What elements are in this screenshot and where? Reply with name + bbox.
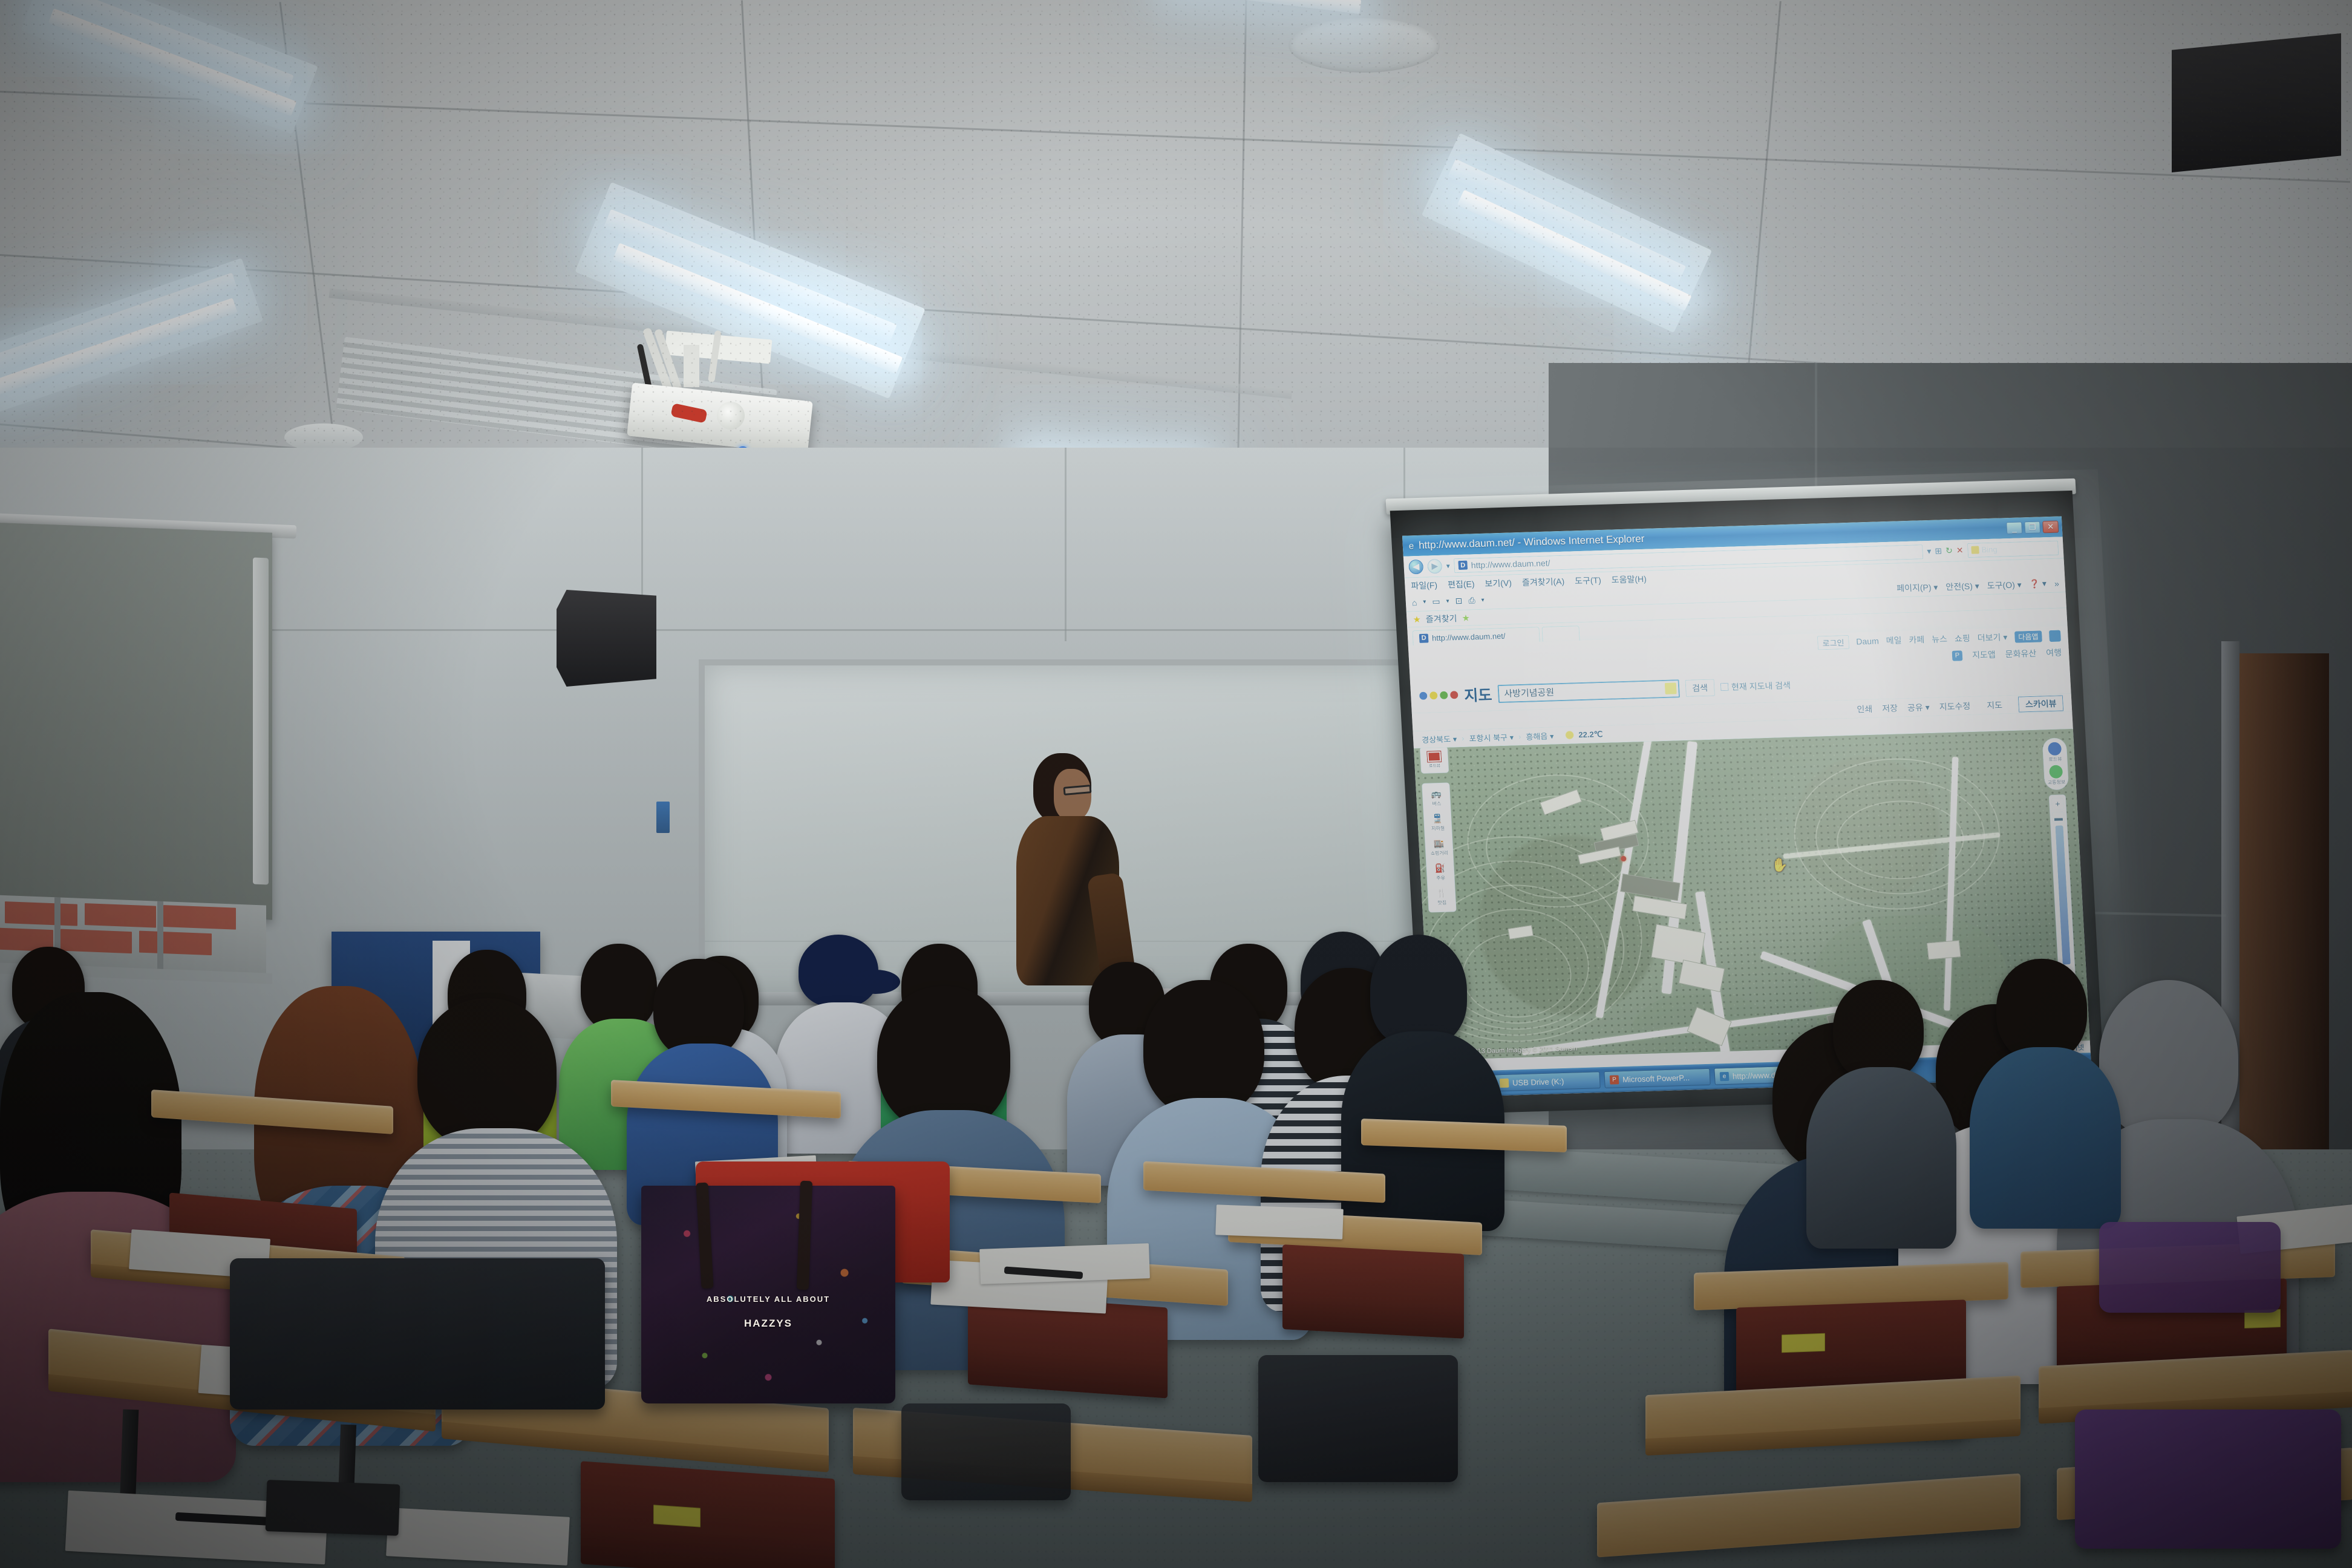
nav-shopping[interactable]: 쇼핑 <box>1954 632 1970 645</box>
command-overflow-icon[interactable]: » <box>2054 578 2060 588</box>
menu-item-tools[interactable]: 도구(T) <box>1575 574 1602 587</box>
zoom-in-button[interactable]: + <box>2051 797 2064 810</box>
logo-dot-green <box>1440 691 1448 699</box>
login-button[interactable]: 로그인 <box>1817 635 1849 650</box>
read-mail-icon[interactable]: ⊡ <box>1455 596 1463 606</box>
subway-icon: 🚆 <box>1431 814 1444 825</box>
ceiling-light <box>0 273 238 374</box>
zoom-level-handle[interactable]: ▬ <box>2052 811 2065 824</box>
minimize-button[interactable]: _ <box>2006 521 2022 534</box>
purple-jacket <box>2099 1222 2281 1313</box>
bing-icon <box>1971 546 1979 554</box>
ie-icon: e <box>1720 1071 1730 1080</box>
sidebar-item-shopping[interactable]: 🏬 쇼핑거리 <box>1426 835 1452 860</box>
browser-search-box[interactable]: Bing <box>1967 540 2059 557</box>
forward-button[interactable]: ▶ <box>1427 558 1442 573</box>
stop-icon[interactable]: ✕ <box>1956 545 1964 555</box>
speaker-right <box>2172 33 2341 172</box>
nav-mail[interactable]: 메일 <box>1886 634 1902 647</box>
map-pin-icon: P <box>1952 650 1963 661</box>
blind-roll-edge <box>253 558 269 885</box>
roadview-toggle-label: 로드뷰 <box>2048 756 2062 763</box>
folder-icon <box>1500 1078 1509 1087</box>
asset-tag <box>653 1504 701 1527</box>
ceiling-light <box>1168 0 1362 14</box>
dark-backpack <box>230 1258 605 1410</box>
shop-icon: 🏬 <box>1432 838 1445 849</box>
ceiling-light <box>1448 159 1686 284</box>
restaurant-icon: 🍴 <box>1436 888 1448 899</box>
projector-assembly <box>593 339 823 460</box>
tote-bag-text-primary: ABSOLUTELY ALL ABOUT <box>641 1295 895 1304</box>
menu-item-file[interactable]: 파일(F) <box>1411 579 1438 592</box>
favorites-star-icon[interactable]: ★ <box>1413 613 1421 624</box>
projector <box>627 383 813 455</box>
favorites-label[interactable]: 즐겨찾기 <box>1425 612 1457 625</box>
taskbar-label-powerpoint: Microsoft PowerP... <box>1622 1073 1690 1083</box>
home-dropdown-icon[interactable]: ▾ <box>1423 599 1426 606</box>
asset-tag <box>1782 1333 1825 1353</box>
map-zoom-controls[interactable]: 로드뷰 교통정보 + ▬ − <box>2042 737 2080 982</box>
sidebar-label-subway: 지하철 <box>1431 825 1445 832</box>
hvac-diffuser <box>336 337 777 462</box>
sidebar-label-shopping: 쇼핑거리 <box>1430 850 1448 857</box>
daum-map-logo[interactable]: 지도 <box>1419 683 1492 707</box>
map-cursor-icon: ✋ <box>1771 857 1789 874</box>
nav-news[interactable]: 뉴스 <box>1932 633 1948 645</box>
home-icon[interactable]: ⌂ <box>1411 598 1417 607</box>
dark-backpack <box>1258 1355 1458 1482</box>
action-share[interactable]: 공유 ▾ <box>1907 701 1930 713</box>
feeds-dropdown-icon[interactable]: ▾ <box>1446 598 1449 604</box>
chair <box>1282 1244 1464 1339</box>
feeds-icon[interactable]: ▭ <box>1432 596 1440 607</box>
site-favicon-icon: D <box>1458 561 1468 570</box>
sidebar-label-restaurant: 맛집 <box>1437 900 1446 906</box>
roadview-label: 로드뷰 <box>1429 762 1441 769</box>
sidebar-item-subway[interactable]: 🚆 지하철 <box>1425 811 1451 836</box>
taskbar-item-usb-drive[interactable]: USB Drive (K:) <box>1494 1071 1600 1091</box>
menu-item-edit[interactable]: 편집(E) <box>1448 578 1475 590</box>
notebook <box>386 1508 570 1566</box>
ie-logo-icon: e <box>1408 541 1414 551</box>
close-button[interactable]: ✕ <box>2042 521 2059 534</box>
search-clear-icon[interactable] <box>1665 682 1677 694</box>
tote-bag-text-secondary: HAZZYS <box>641 1318 895 1330</box>
logo-dot-red <box>1450 691 1459 699</box>
new-tab-button[interactable] <box>1541 626 1579 642</box>
traffic-toggle-label: 교통정보 <box>2048 779 2066 786</box>
roadview-button[interactable]: 로드뷰 <box>1420 746 1449 774</box>
breadcrumb-town[interactable]: 흥해읍 ▾ <box>1526 730 1554 742</box>
nav-more[interactable]: 더보기 ▾ <box>1977 631 2008 644</box>
checkbox-box[interactable] <box>1720 683 1729 691</box>
breadcrumb-separator: › <box>1518 732 1521 741</box>
nav-history-dropdown-icon[interactable]: ▾ <box>1446 561 1450 570</box>
traffic-toggle[interactable]: 교통정보 <box>2047 765 2065 786</box>
search-placeholder: Bing <box>1981 545 1998 555</box>
roller-blind[interactable] <box>0 522 272 920</box>
traffic-toggle-icon <box>2049 765 2063 779</box>
nav-daum[interactable]: Daum <box>1856 636 1879 646</box>
command-safety-menu[interactable]: 안전(S) ▾ <box>1945 580 1979 593</box>
refresh-icon[interactable]: ↻ <box>1945 546 1953 556</box>
map-search-input[interactable]: 사방기념공원 <box>1497 679 1680 703</box>
bus-icon: 🚌 <box>1430 789 1443 800</box>
pencil-case <box>266 1480 400 1536</box>
purple-jacket <box>2075 1410 2341 1549</box>
instructor-face <box>1054 769 1091 821</box>
handout <box>1215 1204 1344 1239</box>
print-icon[interactable]: ⎙ <box>1468 595 1475 606</box>
taskbar-item-powerpoint[interactable]: P Microsoft PowerP... <box>1604 1068 1710 1088</box>
tab-title: http://www.daum.net/ <box>1432 631 1506 642</box>
speaker-left <box>557 590 656 687</box>
logo-dot-blue <box>1419 692 1428 700</box>
powerpoint-icon: P <box>1610 1075 1619 1084</box>
ceiling-light <box>48 8 297 116</box>
search-in-map-checkbox[interactable]: 현재 지도내 검색 <box>1720 679 1791 693</box>
daum-app-badge[interactable]: 다음앱 <box>2014 630 2042 642</box>
map-search-button[interactable]: 검색 <box>1685 679 1714 696</box>
ceiling-light <box>603 209 897 344</box>
roadview-toggle-icon <box>2048 742 2062 756</box>
taskbar-label-usb: USB Drive (K:) <box>1512 1076 1564 1087</box>
action-edit-map[interactable]: 지도수정 <box>1939 699 1971 712</box>
action-save[interactable]: 저장 <box>1882 702 1898 714</box>
ceiling-vent <box>1289 18 1440 73</box>
map-search-value: 사방기념공원 <box>1504 685 1555 699</box>
roadview-toggle[interactable]: 로드뷰 <box>2048 742 2062 763</box>
zoom-track[interactable] <box>2055 825 2070 964</box>
sidebar-item-restaurant[interactable]: 🍴 맛집 <box>1429 884 1454 909</box>
nav-cafe[interactable]: 카페 <box>1909 633 1925 646</box>
ceiling-light <box>1457 190 1692 312</box>
tote-bag: ABSOLUTELY ALL ABOUT HAZZYS <box>641 1186 895 1403</box>
breadcrumb-city[interactable]: 포항시 북구 ▾ <box>1469 731 1514 743</box>
ceiling-light <box>613 243 903 374</box>
print-dropdown-icon[interactable]: ▾ <box>1481 597 1485 604</box>
handout <box>979 1243 1150 1284</box>
menu-item-favorites[interactable]: 즐겨찾기(A) <box>1521 575 1564 589</box>
map-layer-toggles[interactable]: 로드뷰 교통정보 <box>2042 737 2069 790</box>
ceiling-light <box>39 0 294 93</box>
classroom-scene: e http://www.daum.net/ - Windows Interne… <box>0 0 2352 1568</box>
maximize-button[interactable]: ❐ <box>2024 521 2040 534</box>
address-dropdown-icon[interactable]: ▾ <box>1927 546 1932 557</box>
dark-backpack <box>901 1403 1071 1500</box>
checkbox-label: 현재 지도내 검색 <box>1731 679 1791 693</box>
zoom-slider[interactable]: + ▬ − <box>2049 794 2076 981</box>
menu-item-help[interactable]: 도움말(H) <box>1611 573 1647 586</box>
skyview-mode-button[interactable]: 스카이뷰 <box>2018 695 2063 712</box>
wall-sign <box>656 802 670 833</box>
map-mode-button[interactable]: 지도 <box>1979 697 2009 713</box>
weather-temperature: 22.2℃ <box>1578 729 1603 739</box>
breadcrumb-separator: › <box>1462 734 1465 743</box>
subnav-travel[interactable]: 여행 <box>2046 646 2062 659</box>
subnav-heritage[interactable]: 문화유산 <box>2005 647 2037 660</box>
subnav-mapapp[interactable]: 지도앱 <box>1972 648 1996 661</box>
menu-item-view[interactable]: 보기(V) <box>1485 577 1512 589</box>
command-tools-menu[interactable]: 도구(O) ▾ <box>1987 578 2022 592</box>
command-page-menu[interactable]: 페이지(P) ▾ <box>1896 581 1938 594</box>
qr-icon[interactable] <box>2049 630 2061 642</box>
compat-view-icon[interactable]: ⊞ <box>1935 546 1942 556</box>
flag-icon <box>1427 751 1441 762</box>
command-help-menu[interactable]: ❓ ▾ <box>2029 578 2047 589</box>
ceiling-light <box>0 298 238 395</box>
daum-map-logo-text: 지도 <box>1463 683 1492 705</box>
breadcrumb-province[interactable]: 경상북도 ▾ <box>1422 733 1457 745</box>
sidebar-label-bus: 버스 <box>1432 800 1441 807</box>
sidebar-label-fuel: 주유 <box>1436 875 1445 881</box>
add-favorite-icon[interactable]: ★ <box>1462 612 1470 623</box>
back-button[interactable]: ◀ <box>1408 559 1423 574</box>
weather-sun-icon <box>1566 731 1574 739</box>
fuel-icon: ⛽ <box>1434 863 1446 874</box>
address-value: http://www.daum.net/ <box>1471 558 1550 570</box>
sidebar-item-bus[interactable]: 🚌 버스 <box>1423 786 1449 811</box>
address-tools: ▾ ⊞ ↻ ✕ <box>1927 545 1964 557</box>
tab-favicon-icon: D <box>1419 633 1429 642</box>
logo-dot-yellow <box>1429 691 1438 699</box>
action-print[interactable]: 인쇄 <box>1857 702 1873 715</box>
chair <box>581 1461 835 1568</box>
sidebar-item-fuel[interactable]: ⛽ 주유 <box>1428 860 1453 885</box>
